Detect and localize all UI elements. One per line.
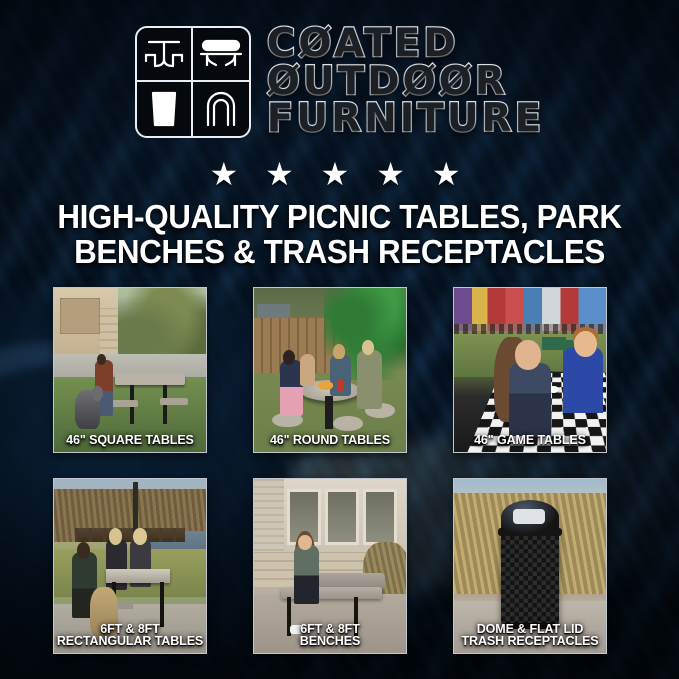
rating-stars: ★ ★ ★ ★ ★ xyxy=(0,158,679,190)
caption-line-2: BENCHES xyxy=(256,635,404,648)
logo-word-coated: CØATED xyxy=(267,26,544,63)
caption-line-2: TRASH RECEPTACLES xyxy=(456,635,604,648)
caption-line-1: 46" ROUND TABLES xyxy=(256,434,404,447)
product-grid: 46" SQUARE TABLES 46" ROUND TABLE xyxy=(53,287,607,654)
product-card-rectangular-tables[interactable]: 6FT & 8FT RECTANGULAR TABLES xyxy=(53,478,207,654)
photo-square-tables xyxy=(54,288,206,452)
advertisement-banner: CØATED ØUTDØØR FURNITURE ★ ★ ★ ★ ★ HIGH-… xyxy=(0,0,679,679)
product-caption: 46" GAME TABLES xyxy=(456,434,604,447)
product-card-benches[interactable]: 6FT & 8FT BENCHES xyxy=(253,478,407,654)
product-caption: 6FT & 8FT BENCHES xyxy=(256,623,404,649)
product-card-trash-receptacles[interactable]: DOME & FLAT LID TRASH RECEPTACLES xyxy=(453,478,607,654)
page-title: HIGH-QUALITY PICNIC TABLES, PARK BENCHES… xyxy=(45,200,633,270)
product-caption: 6FT & 8FT RECTANGULAR TABLES xyxy=(56,623,204,649)
caption-line-1: 46" SQUARE TABLES xyxy=(56,434,204,447)
logo-word-outdoor: ØUTDØØR xyxy=(267,64,544,101)
picnic-table-icon xyxy=(137,28,193,82)
brand-logo: CØATED ØUTDØØR FURNITURE xyxy=(0,26,679,138)
caption-line-1: 46" GAME TABLES xyxy=(456,434,604,447)
logo-word-furniture: FURNITURE xyxy=(267,101,544,138)
bike-rack-arch-icon xyxy=(193,82,249,136)
product-card-game-tables[interactable]: 46" GAME TABLES xyxy=(453,287,607,453)
logo-wordmark: CØATED ØUTDØØR FURNITURE xyxy=(267,26,544,138)
banner-content: CØATED ØUTDØØR FURNITURE ★ ★ ★ ★ ★ HIGH-… xyxy=(0,0,679,679)
product-caption: DOME & FLAT LID TRASH RECEPTACLES xyxy=(456,623,604,649)
photo-round-tables xyxy=(254,288,406,452)
logo-mark xyxy=(135,26,251,138)
trash-receptacle-icon xyxy=(137,82,193,136)
product-caption: 46" ROUND TABLES xyxy=(256,434,404,447)
product-card-square-tables[interactable]: 46" SQUARE TABLES xyxy=(53,287,207,453)
caption-line-2: RECTANGULAR TABLES xyxy=(56,635,204,648)
bench-icon xyxy=(193,28,249,82)
product-caption: 46" SQUARE TABLES xyxy=(56,434,204,447)
photo-game-tables xyxy=(454,288,606,452)
headline-line-1: HIGH-QUALITY PICNIC TABLES, PARK xyxy=(45,200,633,235)
product-card-round-tables[interactable]: 46" ROUND TABLES xyxy=(253,287,407,453)
headline-line-2: BENCHES & TRASH RECEPTACLES xyxy=(45,235,633,270)
